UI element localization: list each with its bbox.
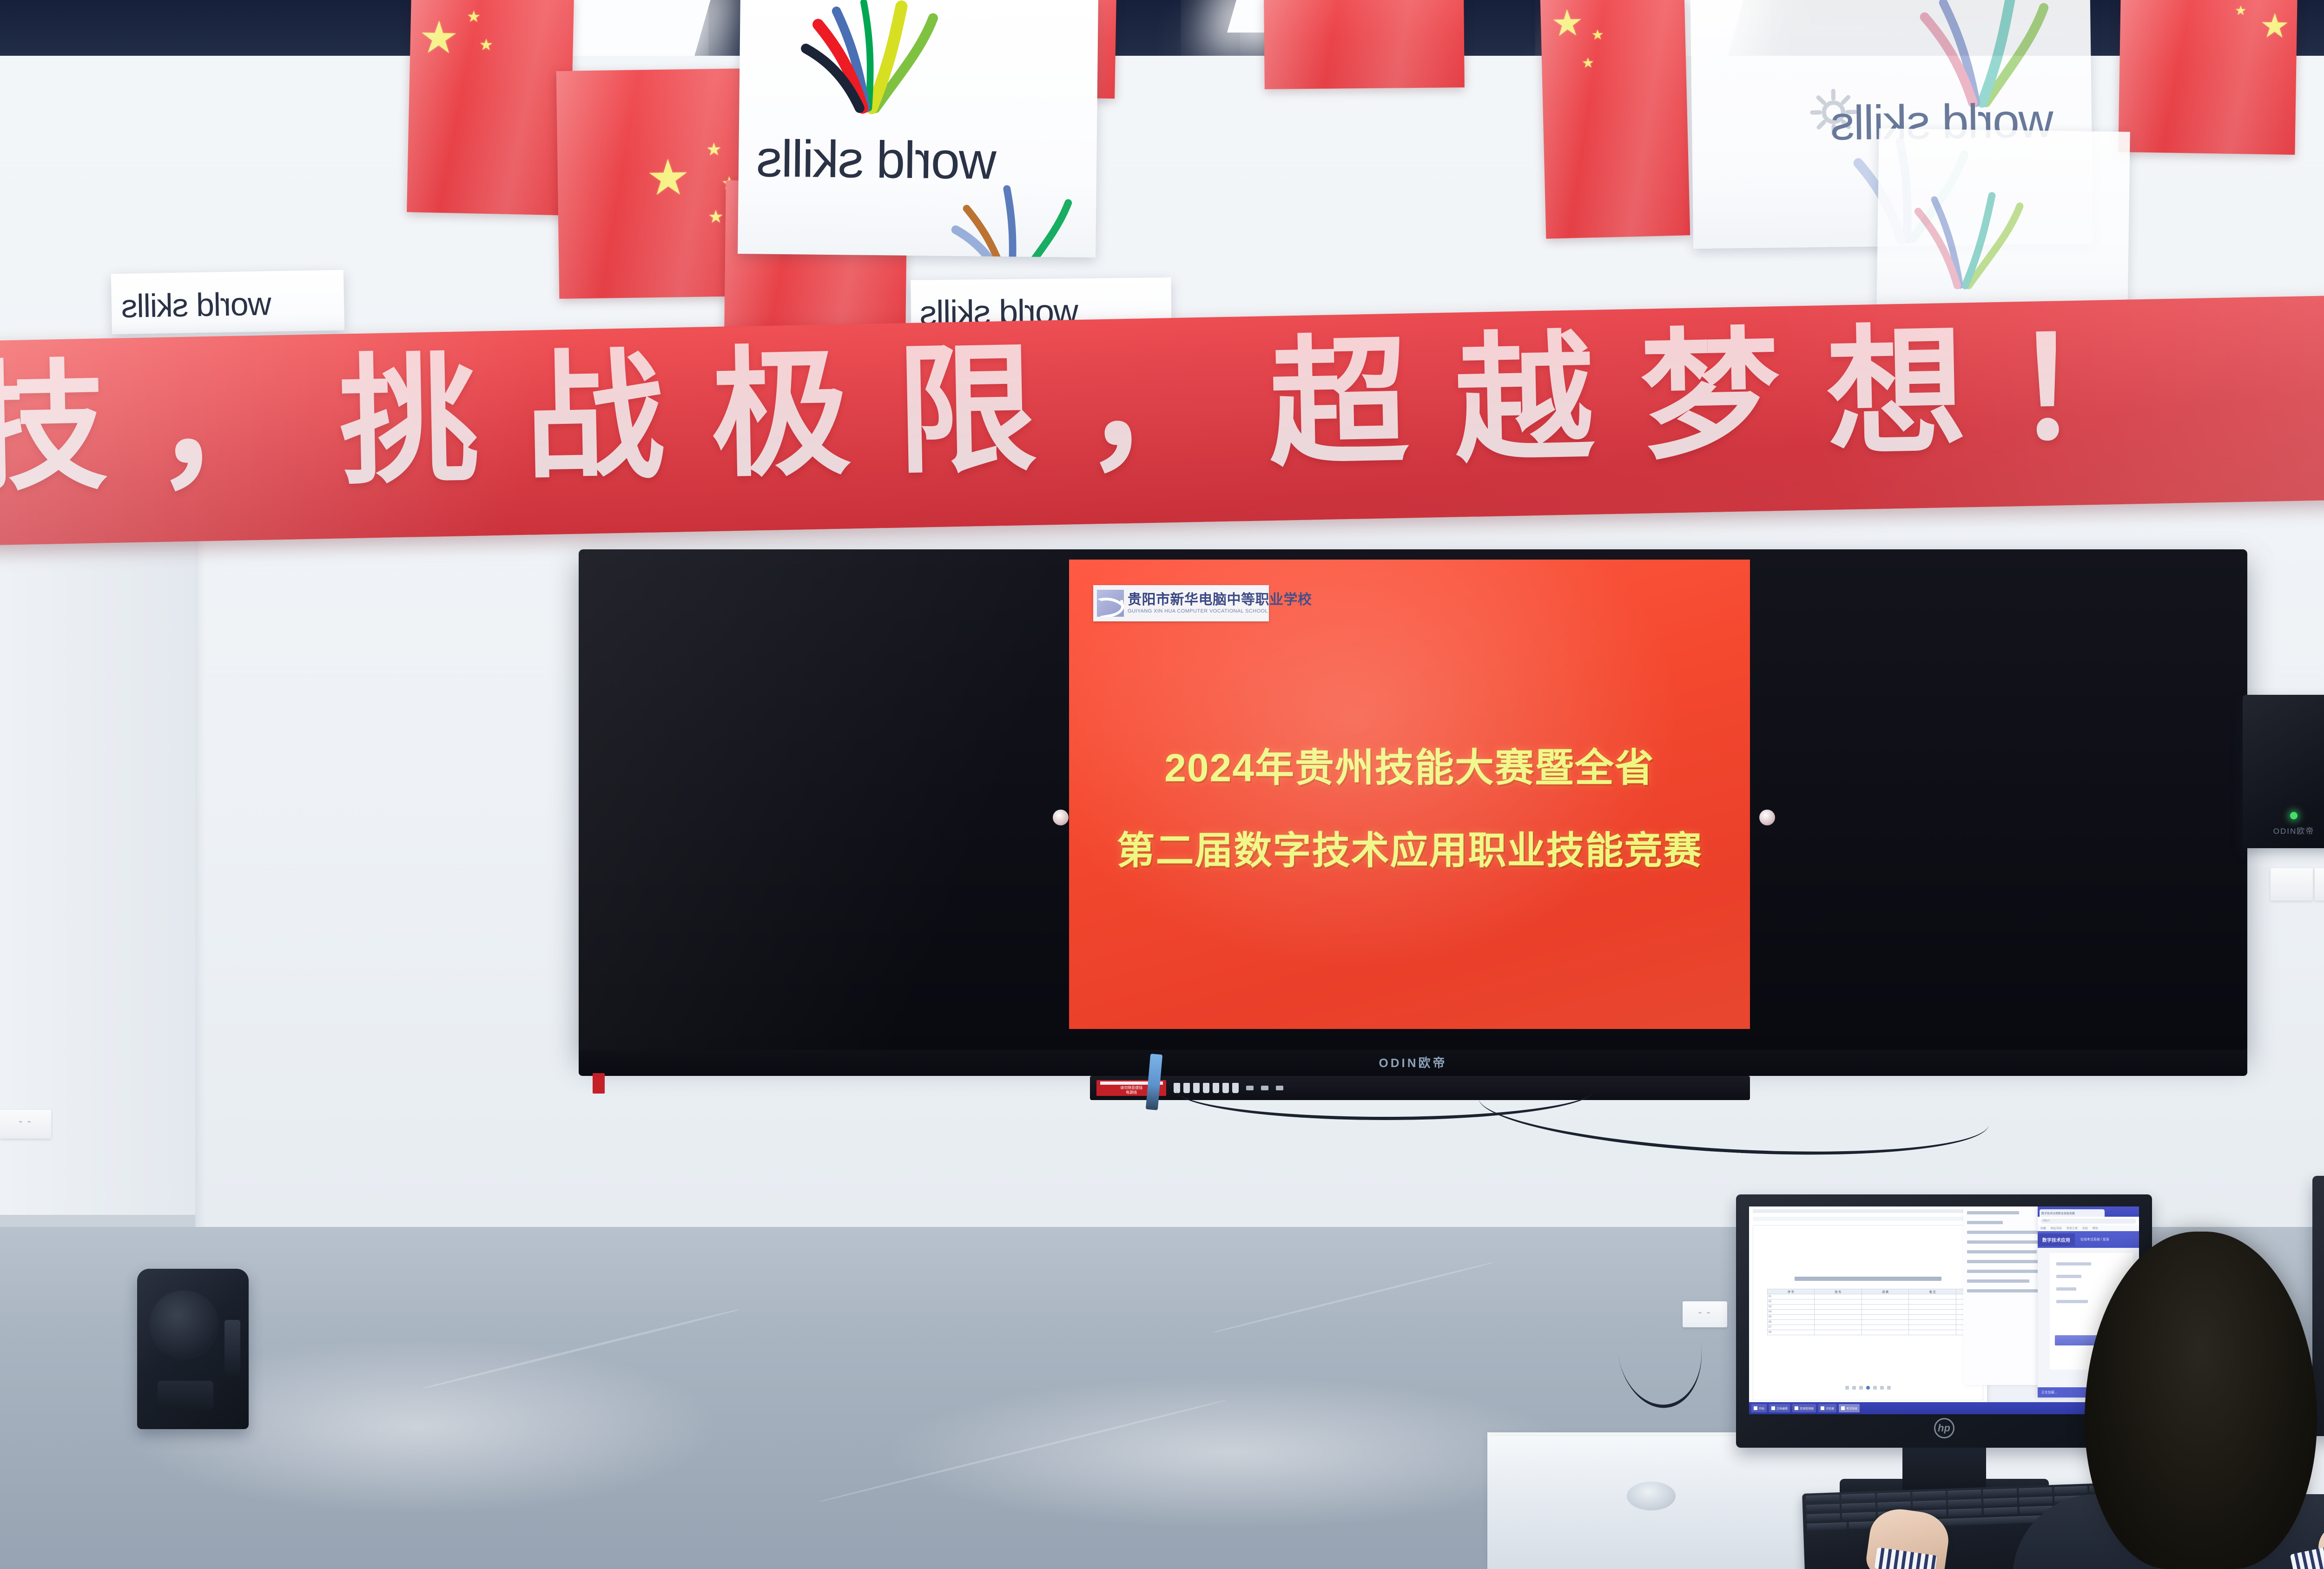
worldskills-banner-2: world skills <box>738 0 1098 257</box>
odin-amplifier-box[interactable]: ODIN欧帝 <box>2243 695 2324 848</box>
china-flag-7 <box>1264 0 1465 89</box>
table-cell <box>1815 1320 1862 1325</box>
tv-bezel-sensor-left <box>1053 810 1069 825</box>
text-line <box>1967 1211 2019 1214</box>
flag-star: ★ <box>708 208 724 226</box>
text-line <box>1967 1279 2029 1283</box>
key[interactable] <box>1877 1492 1911 1501</box>
folder-icon <box>1795 1406 1798 1410</box>
table-cell <box>1909 1299 1956 1305</box>
table-header-cell: 备 注 <box>1909 1289 1956 1294</box>
china-flag-1: ★ ★ ★ <box>407 0 574 216</box>
table-cell: 03 <box>1767 1305 1815 1310</box>
flag-star: ★ <box>2259 9 2290 43</box>
table-cell: 02 <box>1767 1299 1815 1305</box>
light-switch-bank[interactable]: Midea Midea <box>2271 868 2324 901</box>
table-cell <box>1862 1294 1909 1299</box>
china-flag-6: ★ ★ <box>2118 0 2297 155</box>
tv-side-sticker <box>593 1073 605 1094</box>
form-field-label <box>2056 1275 2081 1278</box>
tv-title-line2: 第二届数字技术应用职业技能竞赛 <box>1069 829 1750 873</box>
key[interactable] <box>1948 1508 1982 1516</box>
text-line <box>1967 1221 2003 1224</box>
key[interactable] <box>1912 1491 1946 1499</box>
hp-logo: hp <box>1934 1418 1954 1438</box>
document-icon <box>1771 1406 1775 1410</box>
table-cell <box>1862 1315 1909 1320</box>
table-cell: 05 <box>1767 1315 1815 1320</box>
table-header-cell: 成 绩 <box>1862 1289 1909 1294</box>
table-cell <box>1862 1305 1909 1310</box>
flag-star: ★ <box>706 141 722 158</box>
table-row: 03 <box>1767 1305 1969 1310</box>
school-logo-cn: 贵阳市新华电脑中等职业学校 <box>1128 593 1312 607</box>
taskbar-item-label: 文档编辑 <box>1776 1406 1788 1411</box>
bookmark-item[interactable]: 帮助 <box>2093 1226 2098 1230</box>
tv-screen[interactable]: 贵阳市新华电脑中等职业学校 GUIYANG XIN HUA COMPUTER V… <box>1069 560 1750 1029</box>
socket-holes-icon: ⌁ ⌁ <box>19 1118 33 1126</box>
page-dot[interactable] <box>1887 1386 1891 1390</box>
bookmark-item[interactable]: 系统 <box>2082 1226 2088 1230</box>
power-led-icon <box>2290 812 2298 819</box>
odin-box-brand-label: ODIN欧帝 <box>2273 824 2315 836</box>
taskbar[interactable]: 开始 文档编辑 资源管理器 浏览器 考试系统 09:4 <box>1749 1402 2139 1414</box>
table-cell <box>1909 1294 1956 1299</box>
worldskills-logo-icon-secondary <box>937 181 1091 257</box>
table-cell <box>1909 1320 1956 1325</box>
table-cell <box>1815 1315 1862 1320</box>
key[interactable] <box>1842 1512 1876 1520</box>
table-header-row: 序 号 姓 名 成 绩 备 注 <box>1767 1289 1969 1294</box>
table-cell: 04 <box>1767 1310 1815 1315</box>
table-cell <box>1815 1310 1862 1315</box>
table-cell: 08 <box>1767 1330 1815 1335</box>
flag-star: ★ <box>1582 56 1595 71</box>
worldskills-banner-5 <box>1876 128 2130 318</box>
text-line <box>1967 1250 2037 1253</box>
page-dot[interactable] <box>1873 1386 1877 1390</box>
taskbar-item-exam-system[interactable]: 考试系统 <box>1839 1404 1860 1412</box>
key[interactable] <box>1842 1493 1875 1502</box>
table-header-cell: 姓 名 <box>1815 1289 1862 1294</box>
key[interactable] <box>1984 1507 2018 1516</box>
table-row: 08 <box>1767 1330 1969 1335</box>
exam-icon <box>1841 1406 1845 1410</box>
light-switch-2[interactable] <box>2315 868 2324 901</box>
monitor-left-screen[interactable]: 序 号 姓 名 成 绩 备 注 01 02 03 04 <box>1749 1206 2139 1414</box>
key[interactable] <box>1877 1502 1911 1510</box>
table-cell: 01 <box>1767 1294 1815 1299</box>
key[interactable] <box>2019 1487 2053 1496</box>
document-window[interactable]: 序 号 姓 名 成 绩 备 注 01 02 03 04 <box>1749 1206 1987 1414</box>
taskbar-item-explorer[interactable]: 资源管理器 <box>1792 1404 1816 1412</box>
school-logo-icon <box>1097 590 1124 617</box>
slogan-banner-text: 技，挑战极限，超越梦想！ <box>0 310 2324 499</box>
table-cell: 07 <box>1767 1325 1815 1330</box>
table-row: 01 <box>1767 1294 1969 1299</box>
browser-tab[interactable]: 数字技术应用职业技能竞赛 <box>2040 1209 2105 1217</box>
pa-speaker <box>137 1269 249 1429</box>
bookmark-item[interactable]: 常用工具 <box>2067 1226 2078 1230</box>
table-cell <box>1862 1299 1909 1305</box>
flag-star: ★ <box>467 9 481 25</box>
key[interactable] <box>2054 1486 2088 1494</box>
flag-star: ★ <box>479 37 493 53</box>
baseboard-left <box>0 1215 195 1227</box>
site-title: 数字技术应用 <box>2038 1233 2075 1246</box>
china-flag-4: ★ ★ ★ <box>1540 0 1690 239</box>
worldskills-banner-1: world skills <box>111 270 344 335</box>
taskbar-item-label: 浏览器 <box>1826 1406 1834 1411</box>
taskbar-start-button[interactable]: 开始 <box>1751 1404 1767 1412</box>
table-cell <box>1862 1330 1909 1335</box>
table-row: 07 <box>1767 1325 1969 1330</box>
page-dot[interactable] <box>1880 1386 1884 1390</box>
key[interactable] <box>1983 1489 2017 1497</box>
table-cell <box>1909 1325 1956 1330</box>
school-logo-en: GUIYANG XIN HUA COMPUTER VOCATIONAL SCHO… <box>1128 608 1312 614</box>
table-cell <box>1862 1325 1909 1330</box>
browser-address-input[interactable]: http:// <box>2040 1219 2136 1224</box>
table-cell <box>1909 1305 1956 1310</box>
table-cell <box>1815 1330 1862 1335</box>
key[interactable] <box>2019 1496 2053 1505</box>
document-pagination[interactable] <box>1845 1386 1891 1390</box>
document-toolbar[interactable] <box>1753 1217 1983 1221</box>
flag-star: ★ <box>1551 5 1584 42</box>
key[interactable] <box>1948 1490 1981 1498</box>
table-row: 02 <box>1767 1299 1969 1305</box>
tv-bezel-sensor-right <box>1759 810 1775 825</box>
browser-bookmarks-bar[interactable]: 收藏 网址导航 常用工具 系统 帮助 <box>2038 1225 2139 1231</box>
speaker-port <box>224 1320 240 1376</box>
taskbar-item-label: 资源管理器 <box>1800 1406 1814 1411</box>
classroom-scene: ★ ★ ★ ★ ★ ★ ★ ★ ★ ★ ★ ★ ★ ★ world skills <box>0 0 2324 1569</box>
taskbar-item-document[interactable]: 文档编辑 <box>1769 1404 1790 1412</box>
table-cell <box>1862 1320 1909 1325</box>
key[interactable] <box>1806 1504 1840 1512</box>
worldskills-logo-icon <box>795 0 950 117</box>
table-cell <box>1909 1330 1956 1335</box>
tv-title-line1: 2024年贵州技能大赛暨全省 <box>1069 745 1750 791</box>
floor-sheen-2 <box>883 1376 1580 1529</box>
table-cell <box>1815 1305 1862 1310</box>
site-header: 数字技术应用 在线考试系统 / 登录 <box>2038 1231 2139 1248</box>
key[interactable] <box>1948 1499 1982 1507</box>
page-dot[interactable] <box>1845 1386 1849 1390</box>
breadcrumb: 在线考试系统 / 登录 <box>2075 1237 2109 1242</box>
tv-warning-line1: 请勿随意拔插 <box>1120 1086 1142 1090</box>
table-cell <box>1862 1310 1909 1315</box>
school-logo: 贵阳市新华电脑中等职业学校 GUIYANG XIN HUA COMPUTER V… <box>1093 585 1269 621</box>
table-cell <box>1909 1310 1956 1315</box>
socket-holes-icon: ⌁ ⌁ <box>1698 1309 1712 1317</box>
table-header-cell: 序 号 <box>1767 1289 1815 1294</box>
taskbar-item-label: 考试系统 <box>1846 1406 1857 1411</box>
table-row: 04 <box>1767 1310 1969 1315</box>
table-row: 06 <box>1767 1320 1969 1325</box>
flag-star: ★ <box>2235 4 2247 17</box>
text-line <box>1967 1231 2048 1234</box>
document-page: 序 号 姓 名 成 绩 备 注 01 02 03 04 <box>1753 1225 1983 1400</box>
table-cell <box>1815 1299 1862 1305</box>
key[interactable] <box>1913 1500 1947 1509</box>
taskbar-item-browser[interactable]: 浏览器 <box>1818 1404 1836 1412</box>
form-field-label <box>2056 1262 2091 1266</box>
worldskills-logo-icon-far-right <box>1895 185 2036 293</box>
start-icon <box>1754 1406 1757 1410</box>
key[interactable] <box>1807 1513 1841 1522</box>
key[interactable] <box>1842 1503 1875 1511</box>
flag-star: ★ <box>418 15 459 61</box>
table-cell: 06 <box>1767 1320 1815 1325</box>
bookmark-item[interactable]: 网址导航 <box>2051 1226 2062 1230</box>
page-dot[interactable] <box>1859 1386 1863 1390</box>
document-ribbon[interactable] <box>1753 1209 1983 1213</box>
tv-warning-line2: 电源线 <box>1126 1090 1137 1095</box>
flag-star: ★ <box>646 153 691 203</box>
page-dot[interactable] <box>1852 1386 1856 1390</box>
browser-urlbar[interactable]: http:// <box>2038 1217 2139 1225</box>
key[interactable] <box>1807 1523 1847 1531</box>
table-cell <box>1909 1315 1956 1320</box>
browser-icon <box>1821 1406 1824 1410</box>
key[interactable] <box>1983 1498 2017 1506</box>
document-table: 序 号 姓 名 成 绩 备 注 01 02 03 04 <box>1767 1289 1969 1335</box>
interactive-flat-panel[interactable]: 贵阳市新华电脑中等职业学校 GUIYANG XIN HUA COMPUTER V… <box>579 549 2247 1054</box>
key[interactable] <box>1806 1495 1840 1503</box>
light-switch-1[interactable] <box>2271 868 2313 901</box>
flag-star: ★ <box>1591 28 1604 43</box>
page-dot-current[interactable] <box>1866 1386 1870 1390</box>
browser-tabstrip[interactable]: 数字技术应用职业技能竞赛 <box>2038 1206 2139 1217</box>
worldskills-banner-1-text: world skills <box>121 285 271 325</box>
form-field-label <box>2056 1300 2088 1303</box>
bookmark-item[interactable]: 收藏 <box>2040 1226 2046 1230</box>
form-field-label <box>2056 1287 2076 1291</box>
table-cell <box>1815 1325 1862 1330</box>
desk-cable-grommet <box>1627 1482 1676 1510</box>
table-row: 05 <box>1767 1315 1969 1320</box>
taskbar-item-label: 开始 <box>1759 1406 1764 1411</box>
table-cell <box>1815 1294 1862 1299</box>
document-heading <box>1795 1277 1941 1281</box>
wall-socket-left[interactable]: ⌁ ⌁ <box>0 1110 51 1139</box>
